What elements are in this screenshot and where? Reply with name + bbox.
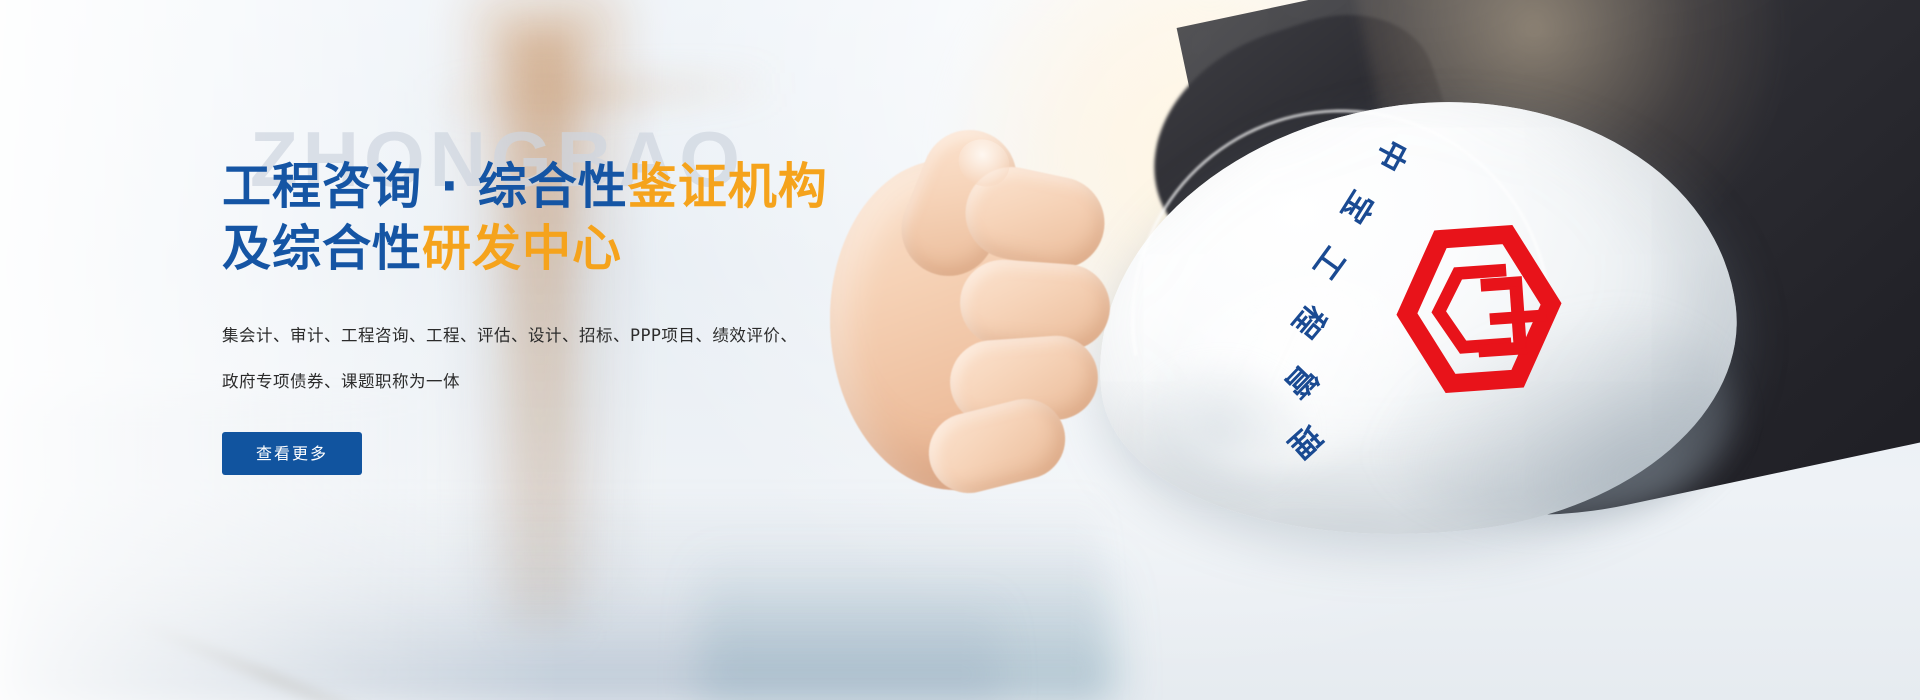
hero-content: ZHONGBAO 工程咨询 · 综合性鉴证机构 及综合性研发中心 集会计、审计、… [222, 120, 982, 475]
helmet-char-4: 程 [1287, 299, 1331, 343]
helmet-char-1: 中 [1370, 134, 1412, 176]
safety-helmet: 中 宝 工 程 管 理 [1095, 105, 1735, 535]
headline-line2-orange: 研发中心 [422, 220, 622, 277]
headline-line-2: 及综合性研发中心 [222, 218, 982, 280]
headline-line1-blue: 工程咨询 · 综合性 [222, 158, 628, 215]
subtitle-line-2: 政府专项债券、课题职称为一体 [222, 359, 822, 404]
headline-line-1: 工程咨询 · 综合性鉴证机构 [222, 156, 982, 218]
hero-banner: 中 宝 工 程 管 理 ZHONGBAO [0, 0, 1920, 700]
view-more-button[interactable]: 查看更多 [222, 432, 362, 475]
helmet-char-6: 理 [1283, 419, 1327, 463]
headline-line2-blue: 及综合性 [222, 220, 422, 277]
hero-subtitle: 集会计、审计、工程咨询、工程、评估、设计、招标、PPP项目、绩效评价、 政府专项… [222, 313, 822, 404]
helmet-char-5: 管 [1279, 359, 1323, 403]
helmet-char-3: 工 [1307, 241, 1350, 284]
helmet-char-2: 宝 [1335, 185, 1378, 228]
headline-line1-orange: 鉴证机构 [628, 158, 828, 215]
subtitle-line-1: 集会计、审计、工程咨询、工程、评估、设计、招标、PPP项目、绩效评价、 [222, 313, 822, 358]
page-title: 工程咨询 · 综合性鉴证机构 及综合性研发中心 [222, 156, 982, 279]
zhongbao-hexagon-logo-icon [1389, 219, 1568, 398]
